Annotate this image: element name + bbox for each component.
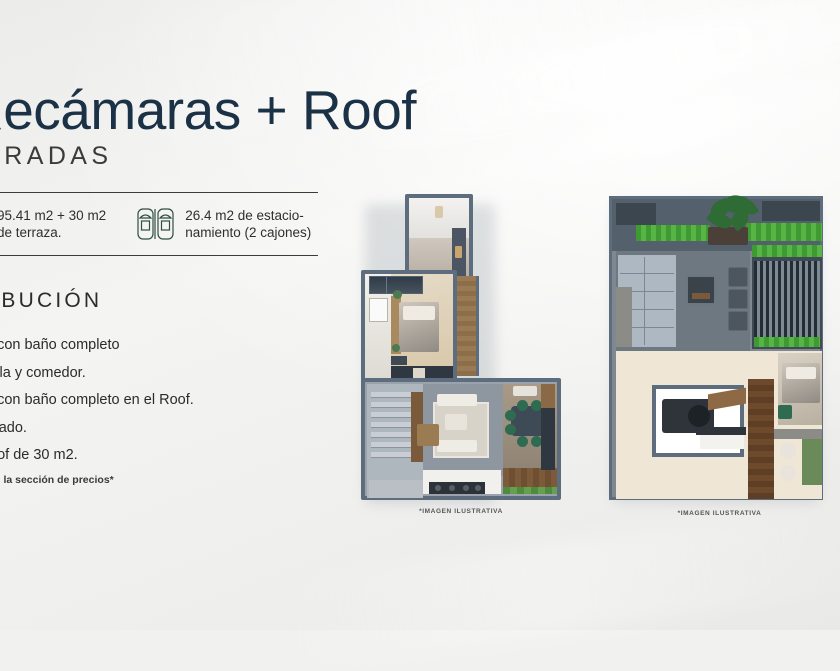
wood-bench xyxy=(708,388,746,411)
vanity-counter xyxy=(696,427,746,435)
distribution-list: mara con baño completo na, sala y comedo… xyxy=(0,332,380,470)
turf-patch xyxy=(636,225,710,241)
wall-unit xyxy=(513,386,537,396)
nightstand xyxy=(391,356,407,365)
tv-console xyxy=(686,275,716,305)
living-area xyxy=(423,384,503,476)
two-cars-icon xyxy=(136,205,176,243)
stove-top xyxy=(429,482,485,494)
render-caption: *IMAGEN ILUSTRATIVA xyxy=(349,508,573,515)
turf-patch xyxy=(746,223,822,241)
sofa xyxy=(437,394,477,406)
list-item: n o roof de 30 m2. xyxy=(0,442,380,470)
distribution-heading: TRIBUCIÓN xyxy=(0,289,102,313)
list-item: de lavado. xyxy=(0,415,380,443)
render-caption: *IMAGEN ILUSTRATIVA xyxy=(603,510,836,517)
price-footnote: alles en la sección de precios* xyxy=(0,474,114,486)
wood-corridor xyxy=(748,379,774,499)
upper-hall-room xyxy=(405,194,473,280)
living-dining-room xyxy=(361,378,561,500)
list-item: mara con baño completo en el Roof. xyxy=(0,387,380,415)
sink xyxy=(700,435,744,449)
roof-bedroom xyxy=(778,353,822,425)
sofa xyxy=(437,440,477,452)
roof-level-plan-canvas xyxy=(603,192,836,504)
turf-strip xyxy=(503,487,557,494)
bathroom xyxy=(652,385,744,457)
slatted-screen xyxy=(754,261,820,345)
stool xyxy=(780,465,796,481)
stair-landing xyxy=(369,480,423,498)
spec-parking: 26.4 m2 de estacio- namiento (2 cajones) xyxy=(136,205,311,243)
wall-art xyxy=(369,298,388,322)
pendant-lamp xyxy=(435,206,443,218)
planter-box xyxy=(708,227,748,245)
tall-cabinet xyxy=(541,408,555,470)
spec-bar: 95.41 m2 + 30 m2 de terraza. 26.4 m2 de … xyxy=(0,192,318,256)
dining-table xyxy=(511,406,545,436)
roof-lounge xyxy=(616,251,750,351)
spec-parking-text: 26.4 m2 de estacio- namiento (2 cajones) xyxy=(185,207,311,241)
ground-floor-plan-canvas xyxy=(349,190,573,502)
spec-area: 95.41 m2 + 30 m2 de terraza. xyxy=(0,206,106,242)
plant-icon xyxy=(392,344,400,352)
page-title: Recámaras + Roof xyxy=(0,80,604,140)
roof-void xyxy=(762,201,820,221)
upper-cabinet xyxy=(541,384,555,408)
side-table xyxy=(417,424,439,446)
staircase xyxy=(367,384,423,498)
roof-void xyxy=(616,203,656,225)
roof-level-render: *IMAGEN ILUSTRATIVA xyxy=(603,192,836,540)
hall-cabinet xyxy=(452,228,466,276)
green-accent-panel xyxy=(802,439,822,485)
page-subtitle: PARADAS xyxy=(0,141,112,171)
roof-garden xyxy=(612,199,820,251)
text-column: Recámaras + Roof PARADAS 95.41 m2 + 30 m… xyxy=(0,0,330,630)
spec-row: 95.41 m2 + 30 m2 de terraza. 26.4 m2 de … xyxy=(0,193,318,255)
roof-bedroom-level xyxy=(616,351,822,499)
spec-divider-bottom xyxy=(0,255,318,256)
turf-patch xyxy=(754,337,820,347)
lounge-seating xyxy=(728,267,746,333)
bed xyxy=(399,302,439,352)
list-item: mara con baño completo xyxy=(0,332,380,360)
concrete-wall xyxy=(616,287,632,347)
coffee-table xyxy=(445,414,467,430)
plant-icon xyxy=(778,405,792,419)
spec-area-text: 95.41 m2 + 30 m2 de terraza. xyxy=(0,207,106,241)
balcony-terrace xyxy=(752,257,822,349)
bed xyxy=(782,363,820,403)
plant-icon xyxy=(393,290,402,299)
kitchen-area xyxy=(423,470,501,494)
ground-floor-render: *IMAGEN ILUSTRATIVA xyxy=(349,190,573,540)
desk-counter xyxy=(774,429,822,439)
stool xyxy=(780,443,796,459)
bedroom xyxy=(361,270,457,382)
roof-floor-outline xyxy=(609,196,823,500)
list-item: na, sala y comedor. xyxy=(0,360,380,388)
